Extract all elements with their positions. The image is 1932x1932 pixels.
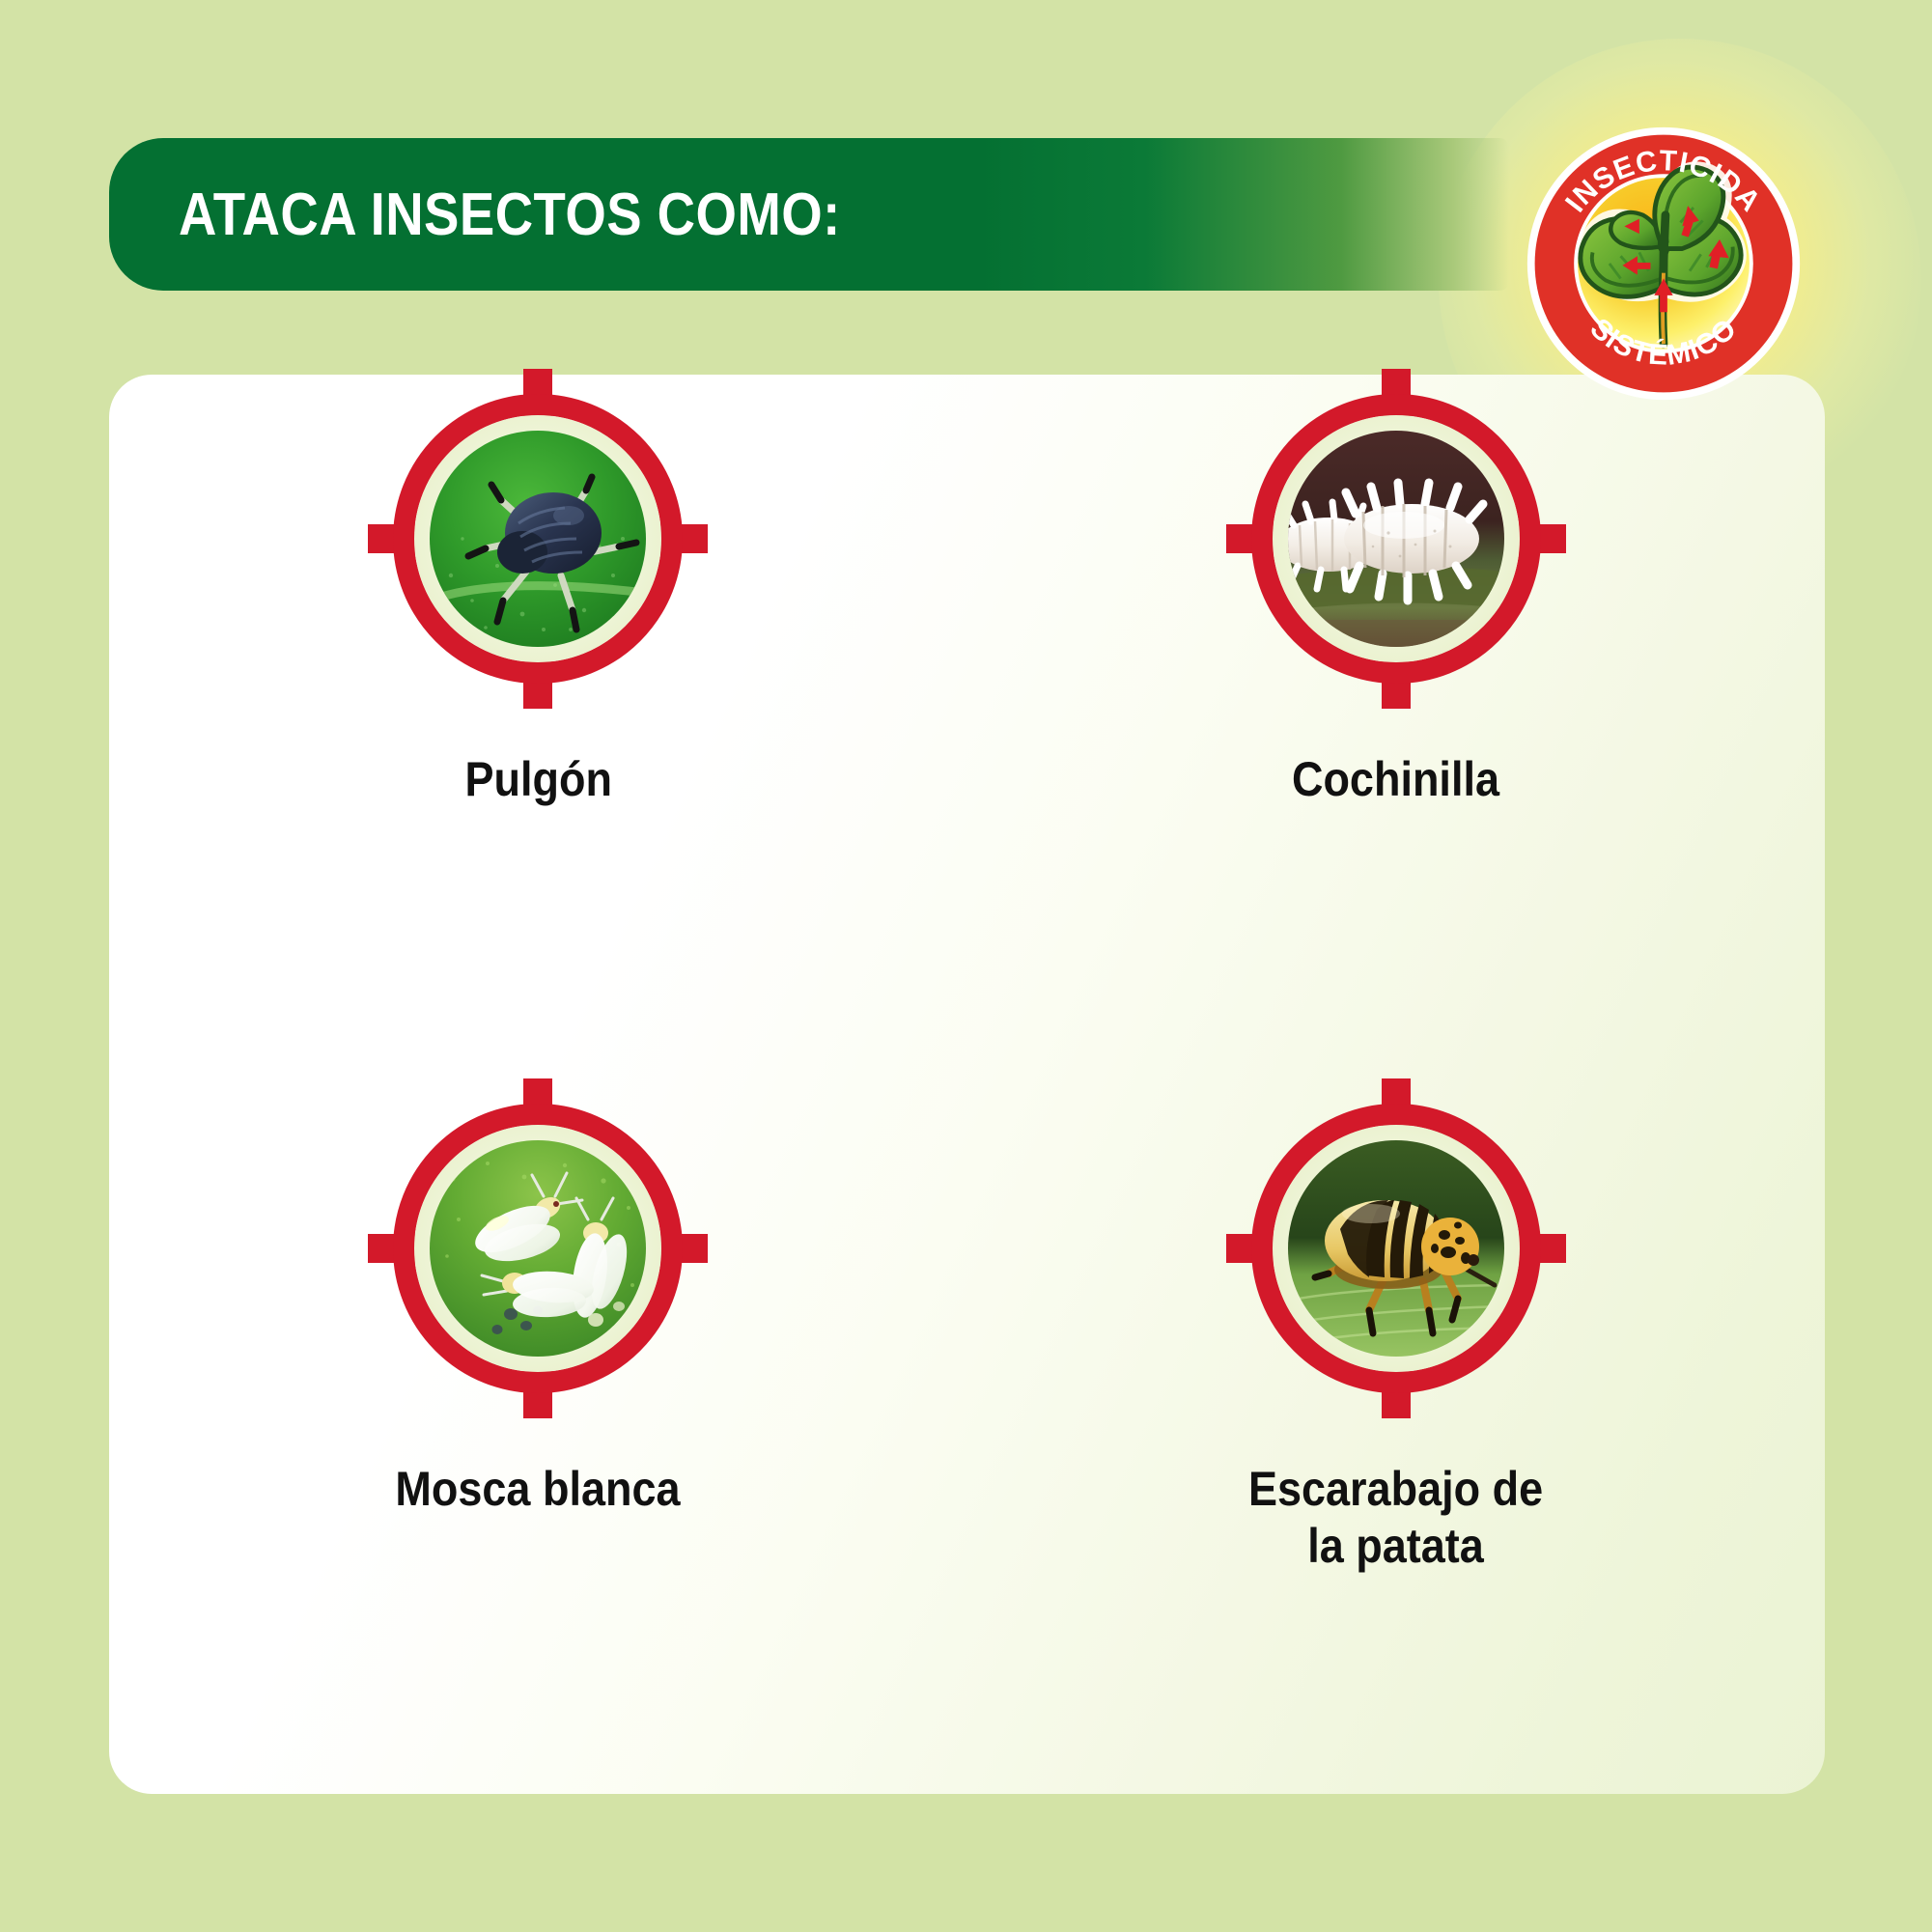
whitefly-photo: [430, 1140, 646, 1357]
pest-label: Escarabajo de la patata: [1248, 1461, 1543, 1575]
target-crosshair-escarabajo-patata: [1226, 1078, 1566, 1418]
target-crosshair-cochinilla: [1226, 369, 1566, 709]
pest-cell-mosca-blanca[interactable]: Mosca blanca: [109, 1084, 967, 1794]
pest-label: Pulgón: [464, 751, 611, 808]
colorado-potato-beetle-photo: [1288, 1140, 1504, 1357]
poster-canvas: ATACA INSECTOS COMO:: [0, 0, 1932, 1932]
target-crosshair-pulgon: [368, 369, 708, 709]
page-title: ATACA INSECTOS COMO:: [179, 181, 841, 249]
insecticida-sistemico-badge: INSECTICIDA SISTÉMICO: [1524, 124, 1804, 404]
pest-cell-pulgon[interactable]: Pulgón: [109, 375, 967, 1084]
aphid-photo: [430, 431, 646, 647]
target-crosshair-mosca-blanca: [368, 1078, 708, 1418]
pest-label: Mosca blanca: [396, 1461, 681, 1518]
mealybug-photo: [1288, 431, 1504, 647]
header-banner: ATACA INSECTOS COMO:: [109, 138, 1509, 291]
pest-cell-cochinilla[interactable]: Cochinilla: [967, 375, 1826, 1084]
pest-label: Cochinilla: [1292, 751, 1499, 808]
pest-cell-escarabajo-patata[interactable]: Escarabajo de la patata: [967, 1084, 1826, 1794]
pest-grid: Pulgón: [109, 375, 1825, 1794]
